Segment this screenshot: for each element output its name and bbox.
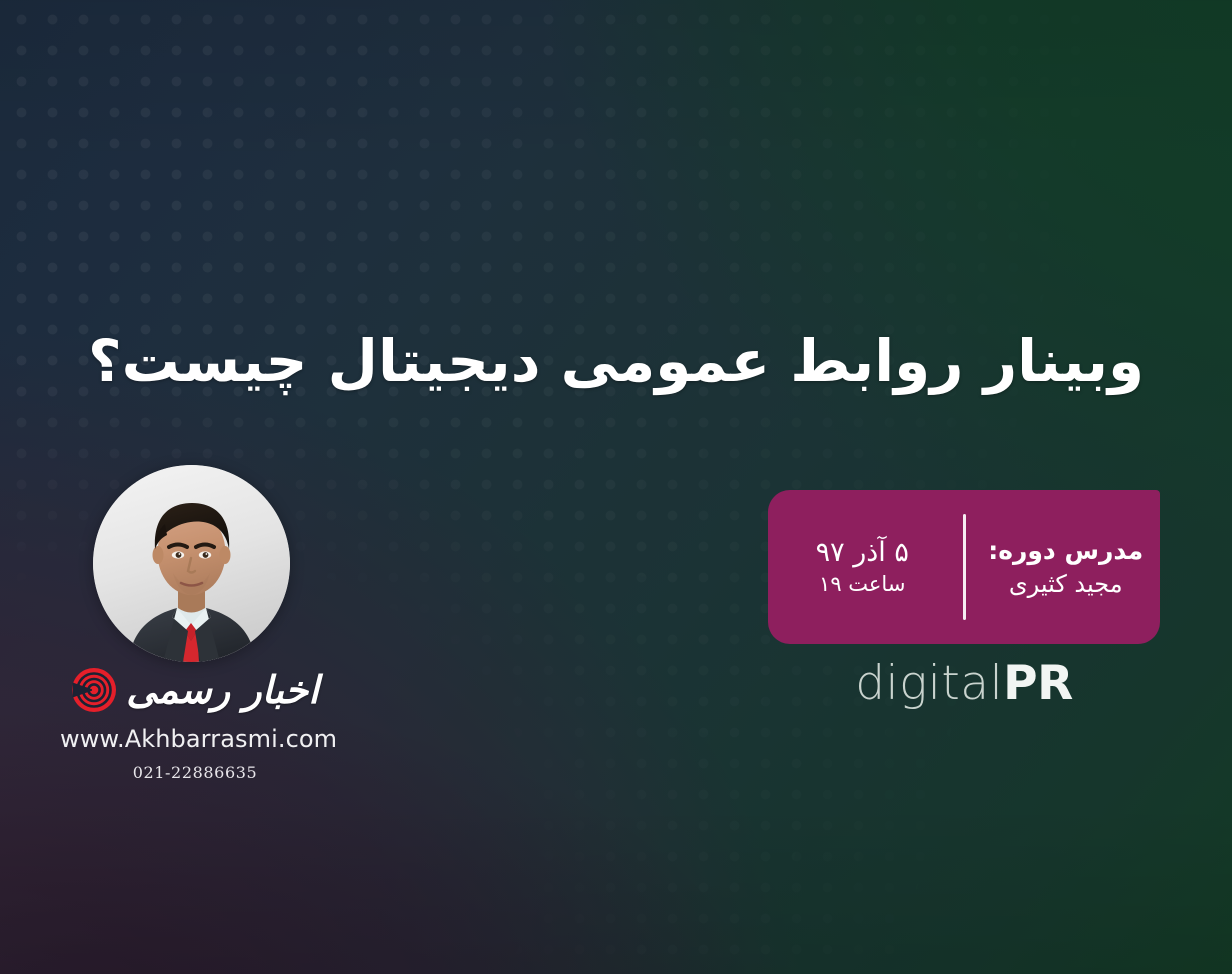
portrait-illustration [93, 465, 290, 662]
badge-divider [963, 514, 966, 620]
partner-logo-bold: PR [1003, 656, 1073, 711]
brand-website[interactable]: www.Akhbarrasmi.com [60, 725, 330, 753]
event-date: ۵ آذر ۹۷ [782, 535, 943, 570]
event-time: ساعت ۱۹ [782, 570, 943, 599]
brand-wordmark: اخبار رسمی [126, 671, 319, 709]
brand-logo-block: اخبار رسمی www.Akhbarrasmi.com 021-22886… [60, 664, 330, 782]
schedule-section: ۵ آذر ۹۷ ساعت ۱۹ [768, 535, 963, 599]
instructor-role-label: مدرس دوره: [986, 534, 1147, 568]
avatar [93, 465, 290, 662]
instructor-section: مدرس دوره: مجید کثیری [966, 534, 1161, 600]
brand-logo-row: اخبار رسمی [60, 664, 330, 716]
instructor-name: مجید کثیری [986, 568, 1147, 600]
partner-logo-thin: digital [855, 656, 1003, 711]
target-radar-icon [71, 667, 117, 713]
partner-logo: digitalPR [768, 660, 1160, 707]
instructor-date-badge: مدرس دوره: مجید کثیری ۵ آذر ۹۷ ساعت ۱۹ [768, 490, 1160, 644]
page-title: وبینار روابط عمومی دیجیتال چیست؟ [0, 326, 1232, 397]
brand-phone[interactable]: 021-22886635 [60, 763, 330, 782]
webinar-banner: وبینار روابط عمومی دیجیتال چیست؟ [0, 0, 1232, 974]
